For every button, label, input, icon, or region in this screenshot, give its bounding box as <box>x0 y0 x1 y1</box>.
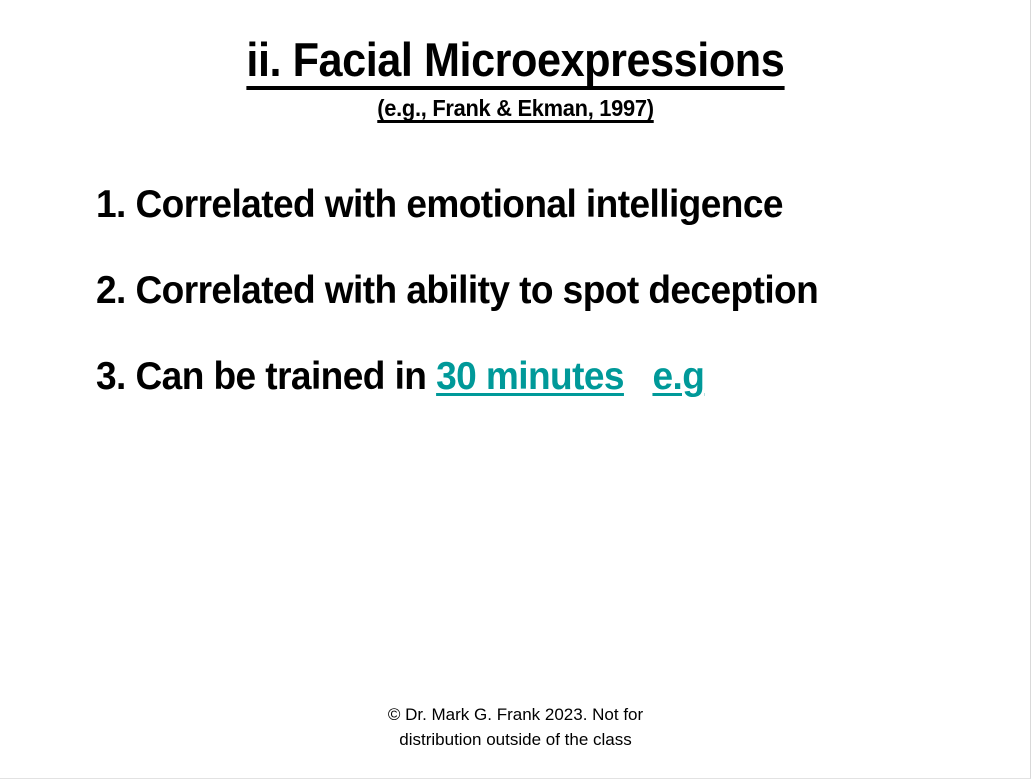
subtitle-wrap: (e.g., Frank & Ekman, 1997) <box>0 96 1031 123</box>
list-item-3-lead: 3. Can be trained in <box>96 355 436 398</box>
page-subtitle: (e.g., Frank & Ekman, 1997) <box>377 96 653 123</box>
copyright-line-2: distribution outside of the class <box>0 728 1031 753</box>
page-title: ii. Facial Microexpressions <box>247 36 785 90</box>
link-30-minutes[interactable]: 30 minutes <box>436 355 624 398</box>
slide-canvas: ii. Facial Microexpressions (e.g., Frank… <box>0 0 1031 779</box>
list-item-1: 1. Correlated with emotional intelligenc… <box>96 178 913 232</box>
copyright-line-1: © Dr. Mark G. Frank 2023. Not for <box>0 703 1031 728</box>
copyright-footer: © Dr. Mark G. Frank 2023. Not for distri… <box>0 703 1031 752</box>
title-block: ii. Facial Microexpressions (e.g., Frank… <box>0 36 1031 123</box>
list-item-2: 2. Correlated with ability to spot decep… <box>96 264 913 318</box>
body-list: 1. Correlated with emotional intelligenc… <box>96 178 956 403</box>
list-item-3: 3. Can be trained in 30 minutese.g <box>96 350 913 404</box>
link-eg[interactable]: e.g <box>652 355 704 398</box>
